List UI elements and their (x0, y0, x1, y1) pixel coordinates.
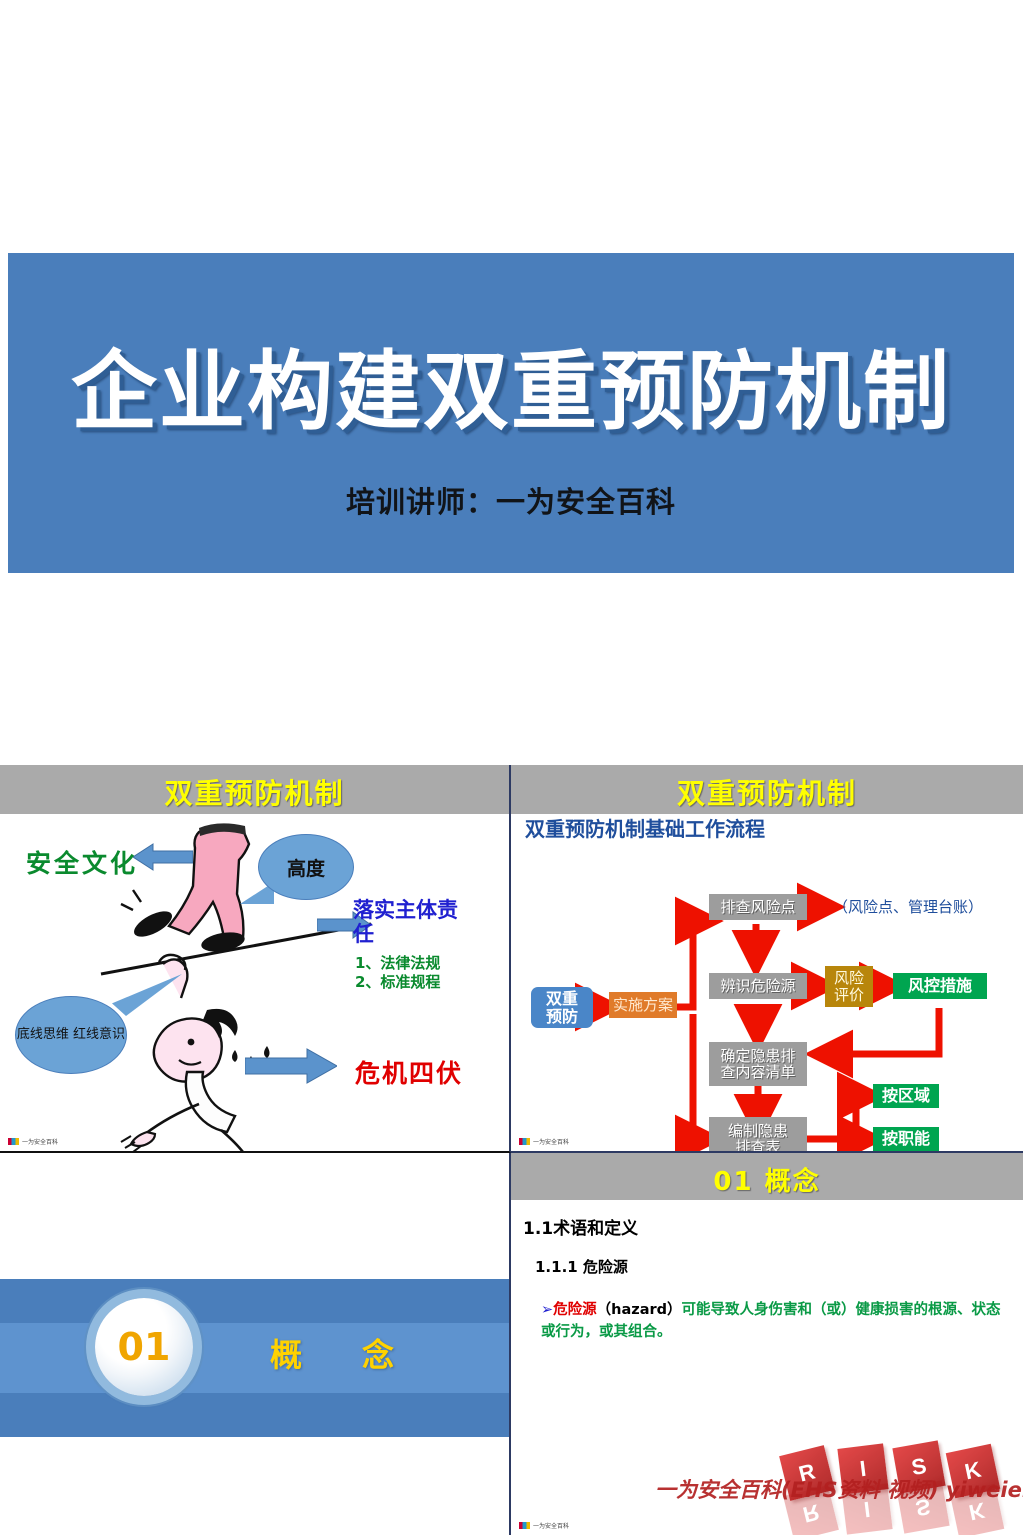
label-responsibility-list: 1、法律法规 2、标准规程 (355, 954, 475, 992)
node-hazard-checklist-content: 确定隐患排 查内容清单 (709, 1042, 807, 1086)
cartoon-canvas: 高度 底线思维 红线意识 安全文化 落实主体责任 1、法律法规 2、标准规程 危… (0, 814, 511, 1151)
page-title: 企业构建双重预防机制 (8, 321, 1014, 446)
slide-logo-flowchart: 一为安全百科 (519, 1137, 569, 1146)
title-subtitle: 培训讲师：一为安全百科 (8, 479, 1014, 521)
arrow-right-icon-crisis (245, 1048, 337, 1084)
node-risk-control-measure: 风控措施 (893, 973, 987, 999)
note-risk-ledger: （风险点、管理台账） (833, 896, 983, 917)
brand-mark-icon (519, 1522, 530, 1529)
slide-header-bar: 双重预防机制 (511, 765, 1023, 814)
speech-bubble-height: 高度 (258, 834, 354, 900)
label-crisis: 危机四伏 (355, 1054, 463, 1090)
node-by-area: 按区域 (873, 1084, 939, 1108)
definition-english: （hazard） (597, 1302, 682, 1318)
brand-mark-icon (8, 1138, 19, 1145)
node-start: 双重 预防 (531, 987, 593, 1028)
slide-header-title: 01 概念 (511, 1161, 1023, 1198)
node-implementation-plan: 实施方案 (609, 992, 677, 1018)
node-risk-evaluation: 风险 评价 (825, 966, 873, 1007)
label-main-responsibility: 落实主体责任 (353, 899, 473, 946)
section-number: 01 (118, 1325, 171, 1369)
presentation-page: 企业构建双重预防机制 培训讲师：一为安全百科 双重预防机制 (0, 0, 1023, 1535)
slide-concept[interactable]: 01 概念 1.1术语和定义 1.1.1 危险源 ➢危险源（hazard）可能导… (511, 1153, 1023, 1535)
title-slide: 企业构建双重预防机制 培训讲师：一为安全百科 (8, 253, 1014, 573)
definition-hazard: ➢危险源（hazard）可能导致人身伤害和（或）健康损害的根源、状态或行为，或其… (541, 1300, 1003, 1344)
slide-logo-concept: 一为安全百科 (519, 1521, 569, 1530)
slide-section-divider[interactable]: 01 概 念 (0, 1153, 511, 1535)
arrow-left-icon (133, 842, 193, 872)
node-compile-checklist: 编制隐患 排查表 (709, 1117, 807, 1153)
speech-bubble-bottom-line: 底线思维 红线意识 (15, 996, 127, 1074)
slide-header-bar: 01 概念 (511, 1153, 1023, 1200)
slide-flowchart[interactable]: 双重预防机制 双重预防机制基础工作流程 (511, 765, 1023, 1153)
heading-hazard-source: 1.1.1 危险源 (535, 1256, 628, 1277)
slide-grid: 双重预防机制 (0, 765, 1023, 1535)
slide-header-title: 双重预防机制 (511, 772, 1023, 812)
slide-logo-text: 一为安全百科 (533, 1521, 569, 1530)
definition-term: 危险源 (553, 1302, 597, 1318)
section-title: 概 念 (270, 1330, 408, 1376)
brand-mark-icon (519, 1138, 530, 1145)
slide-cartoon[interactable]: 双重预防机制 (0, 765, 511, 1153)
section-number-badge: 01 (95, 1298, 193, 1396)
slide-header-bar: 双重预防机制 (0, 765, 509, 814)
concept-body: 1.1术语和定义 1.1.1 危险源 ➢危险源（hazard）可能导致人身伤害和… (511, 1200, 1023, 1535)
section-band (0, 1279, 511, 1437)
slide-header-title: 双重预防机制 (0, 772, 509, 812)
slide-logo-text: 一为安全百科 (533, 1137, 569, 1146)
heading-terms-definitions: 1.1术语和定义 (523, 1214, 638, 1239)
slide-logo-cartoon: 一为安全百科 (8, 1137, 58, 1146)
node-risk-point-screening: 排查风险点 (709, 894, 807, 920)
node-identify-hazard: 辨识危险源 (709, 973, 807, 999)
bullet-icon: ➢ (541, 1302, 553, 1318)
label-safety-culture: 安全文化 (26, 844, 138, 880)
node-by-function: 按职能 (873, 1127, 939, 1151)
flowchart-canvas: 双重预防机制基础工作流程 (511, 814, 1023, 1151)
slide-logo-text: 一为安全百科 (22, 1137, 58, 1146)
